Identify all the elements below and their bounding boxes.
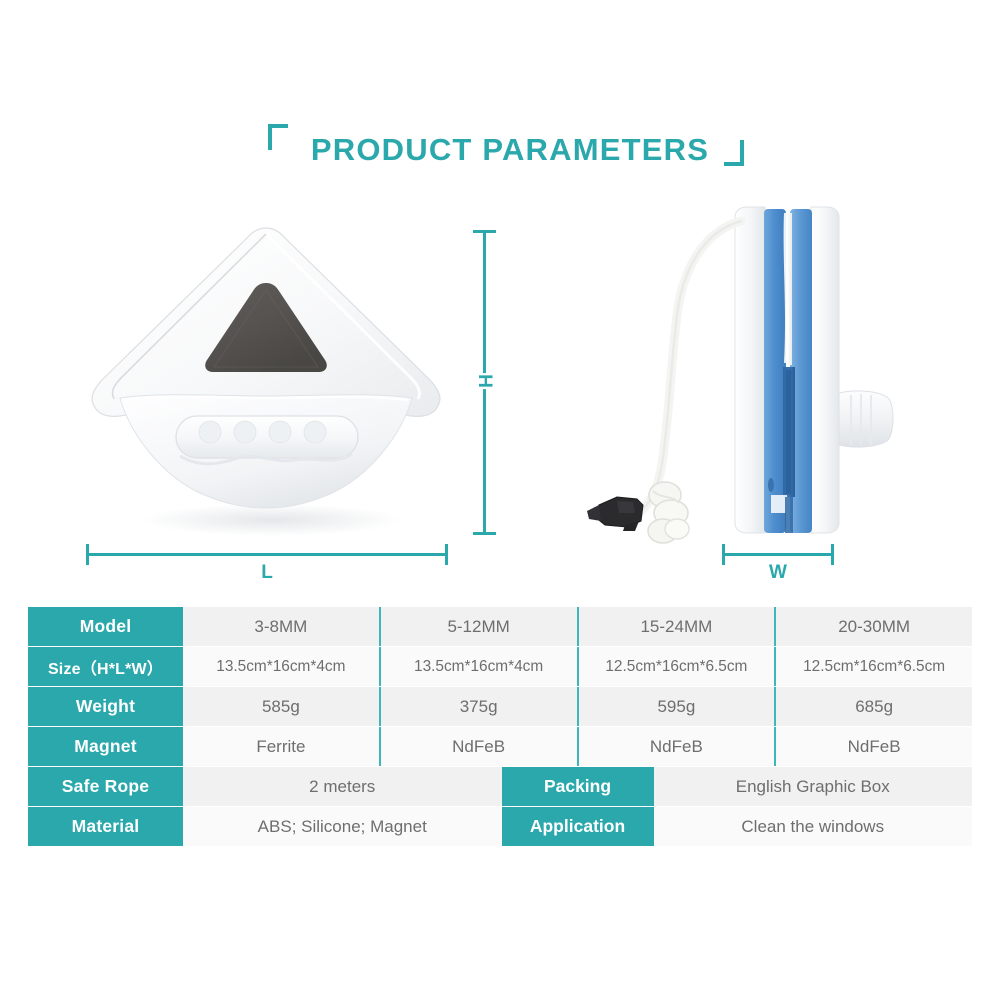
cell-magnet-1: Ferrite — [183, 727, 381, 766]
row-label-size: Size（H*L*W） — [28, 647, 183, 686]
row-label-material: Material — [28, 807, 183, 846]
dimension-h-cap-bottom — [473, 532, 496, 535]
table-row: Size（H*L*W） 13.5cm*16cm*4cm 13.5cm*16cm*… — [28, 647, 972, 686]
dimension-h-label: H — [471, 373, 497, 389]
cell-model-2: 5-12MM — [381, 607, 579, 646]
cell-magnet-2: NdFeB — [381, 727, 579, 766]
table-row: Material ABS; Silicone; Magnet Applicati… — [28, 807, 972, 846]
table-row: Weight 585g 375g 595g 685g — [28, 687, 972, 726]
cell-weight-1: 585g — [183, 687, 381, 726]
cell-weight-4: 685g — [776, 687, 972, 726]
cell-weight-2: 375g — [381, 687, 579, 726]
cell-magnet-3: NdFeB — [579, 727, 777, 766]
title-bracket-top-left — [268, 124, 288, 150]
cell-size-4: 12.5cm*16cm*6.5cm — [776, 647, 972, 686]
cell-weight-3: 595g — [579, 687, 777, 726]
cell-magnet-4: NdFeB — [776, 727, 972, 766]
row-label-model: Model — [28, 607, 183, 646]
dimension-l-label: L — [86, 562, 448, 584]
row-label-application: Application — [502, 807, 654, 846]
cell-safe-rope-value: 2 meters — [183, 767, 502, 806]
dimension-l-line — [86, 553, 448, 556]
product-image-side-view — [565, 195, 965, 575]
cell-model-4: 20-30MM — [776, 607, 972, 646]
row-label-weight: Weight — [28, 687, 183, 726]
row-label-safe-rope: Safe Rope — [28, 767, 183, 806]
table-row: Model 3-8MM 5-12MM 15-24MM 20-30MM — [28, 607, 972, 646]
page-title: PRODUCT PARAMETERS — [300, 132, 720, 168]
row-label-magnet: Magnet — [28, 727, 183, 766]
product-diagram-area — [0, 195, 1000, 595]
table-row: Safe Rope 2 meters Packing English Graph… — [28, 767, 972, 806]
spec-table: Model 3-8MM 5-12MM 15-24MM 20-30MM Size（… — [28, 607, 972, 847]
dimension-w-label: W — [722, 562, 834, 584]
title-bracket-bottom-right — [724, 140, 744, 166]
cell-model-3: 15-24MM — [579, 607, 777, 646]
cell-size-2: 13.5cm*16cm*4cm — [381, 647, 579, 686]
cell-size-3: 12.5cm*16cm*6.5cm — [579, 647, 777, 686]
cell-material-value: ABS; Silicone; Magnet — [183, 807, 502, 846]
row-label-packing: Packing — [502, 767, 654, 806]
dimension-w-line — [722, 553, 834, 556]
cell-model-1: 3-8MM — [183, 607, 381, 646]
cell-packing-value: English Graphic Box — [654, 767, 973, 806]
cell-application-value: Clean the windows — [654, 807, 973, 846]
cell-size-1: 13.5cm*16cm*4cm — [183, 647, 381, 686]
table-row: Magnet Ferrite NdFeB NdFeB NdFeB — [28, 727, 972, 766]
product-image-front-view — [80, 220, 460, 550]
